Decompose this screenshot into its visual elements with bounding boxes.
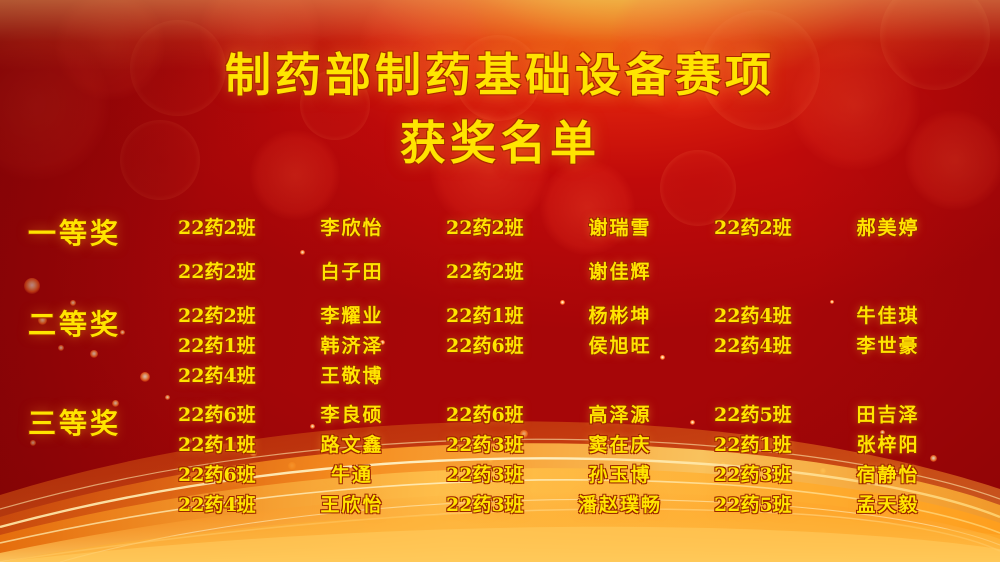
award-label-1: 一等奖	[28, 212, 178, 252]
winner-entry: 22药6班侯旭旺	[446, 331, 714, 358]
winner-entry: 22药2班李欣怡	[178, 213, 446, 240]
winner-entry: 22药2班谢瑞雪	[446, 213, 714, 240]
table-row: 22药6班牛通22药3班孙玉博22药3班宿静怡	[178, 458, 990, 488]
winner-name: 谢瑞雪	[550, 213, 714, 240]
winner-entry: 22药4班王欣怡	[178, 490, 446, 517]
winner-name: 牛通	[282, 460, 446, 487]
winner-class: 22药2班	[446, 213, 550, 240]
table-row: 22药2班李耀业22药1班杨彬坤22药4班牛佳琪	[178, 299, 990, 329]
winner-class: 22药4班	[714, 331, 818, 358]
table-row: 22药4班王欣怡22药3班潘赵璞畅22药5班孟天毅	[178, 488, 990, 518]
winner-class: 22药4班	[178, 490, 282, 517]
winner-entry: 22药3班窦在庆	[446, 430, 714, 457]
winner-name: 李耀业	[282, 301, 446, 328]
winner-entry: 22药4班李世豪	[714, 331, 982, 358]
winner-entry: 22药2班白子田	[178, 257, 446, 284]
table-row: 22药6班李良硕22药6班高泽源22药5班田吉泽	[178, 398, 990, 428]
award-rows: 22药2班李欣怡22药2班谢瑞雪22药2班郝美婷22药2班白子田22药2班谢佳辉	[178, 204, 990, 292]
table-row: 22药2班李欣怡22药2班谢瑞雪22药2班郝美婷	[178, 204, 990, 248]
winner-class: 22药6班	[178, 460, 282, 487]
winner-class: 22药5班	[714, 490, 818, 517]
winner-name: 李世豪	[818, 331, 982, 358]
winner-name: 潘赵璞畅	[550, 490, 714, 517]
winner-entry: 22药5班孟天毅	[714, 490, 982, 517]
winner-entry: 22药4班牛佳琪	[714, 301, 982, 328]
winner-entry: 22药5班田吉泽	[714, 400, 982, 427]
slide-content: 制药部制药基础设备赛项 获奖名单 一等奖22药2班李欣怡22药2班谢瑞雪22药2…	[0, 0, 1000, 562]
award-label-3: 三等奖	[28, 402, 178, 442]
table-row: 22药2班白子田22药2班谢佳辉	[178, 248, 990, 292]
winner-entry: 22药6班高泽源	[446, 400, 714, 427]
winner-class: 22药6班	[178, 400, 282, 427]
winner-name: 谢佳辉	[550, 257, 714, 284]
winner-class: 22药1班	[714, 430, 818, 457]
winner-name: 韩济泽	[282, 331, 446, 358]
winner-entry: 22药1班杨彬坤	[446, 301, 714, 328]
winner-entry: 22药6班牛通	[178, 460, 446, 487]
winner-class: 22药1班	[178, 331, 282, 358]
table-row: 22药4班王敬博	[178, 359, 990, 389]
winner-entry: 22药2班郝美婷	[714, 213, 982, 240]
winner-name: 李欣怡	[282, 213, 446, 240]
winner-name: 杨彬坤	[550, 301, 714, 328]
winner-entry: 22药2班谢佳辉	[446, 257, 714, 284]
winner-entry: 22药1班张梓阳	[714, 430, 982, 457]
winner-entry: 22药3班孙玉博	[446, 460, 714, 487]
winner-entry: 22药6班李良硕	[178, 400, 446, 427]
winner-name: 王欣怡	[282, 490, 446, 517]
winner-name: 宿静怡	[818, 460, 982, 487]
award-rows: 22药2班李耀业22药1班杨彬坤22药4班牛佳琪22药1班韩济泽22药6班侯旭旺…	[178, 299, 990, 389]
winner-class: 22药3班	[446, 430, 550, 457]
winner-name: 白子田	[282, 257, 446, 284]
winner-class: 22药4班	[714, 301, 818, 328]
winner-class: 22药1班	[178, 430, 282, 457]
winner-class: 22药3班	[714, 460, 818, 487]
winner-name: 郝美婷	[818, 213, 982, 240]
award-list-slide: 制药部制药基础设备赛项 获奖名单 一等奖22药2班李欣怡22药2班谢瑞雪22药2…	[0, 0, 1000, 562]
winner-entry: 22药1班路文鑫	[178, 430, 446, 457]
winner-class: 22药3班	[446, 460, 550, 487]
winner-entry: 22药3班宿静怡	[714, 460, 982, 487]
winner-class: 22药2班	[714, 213, 818, 240]
winner-class: 22药2班	[178, 301, 282, 328]
award-rows: 22药6班李良硕22药6班高泽源22药5班田吉泽22药1班路文鑫22药3班窦在庆…	[178, 398, 990, 518]
winner-name: 高泽源	[550, 400, 714, 427]
winner-name: 牛佳琪	[818, 301, 982, 328]
winner-class: 22药3班	[446, 490, 550, 517]
winner-class: 22药4班	[178, 361, 282, 388]
winner-class: 22药1班	[446, 301, 550, 328]
winner-class: 22药2班	[178, 213, 282, 240]
winner-name: 孟天毅	[818, 490, 982, 517]
winner-name: 路文鑫	[282, 430, 446, 457]
table-row: 22药1班韩济泽22药6班侯旭旺22药4班李世豪	[178, 329, 990, 359]
winner-class: 22药2班	[446, 257, 550, 284]
page-title-line1: 制药部制药基础设备赛项	[0, 52, 1000, 98]
winner-name: 孙玉博	[550, 460, 714, 487]
winner-entry: 22药4班王敬博	[178, 361, 446, 388]
award-label-2: 二等奖	[28, 303, 178, 343]
winner-name: 窦在庆	[550, 430, 714, 457]
awards-list: 一等奖22药2班李欣怡22药2班谢瑞雪22药2班郝美婷22药2班白子田22药2班…	[0, 198, 1000, 562]
winner-class: 22药2班	[178, 257, 282, 284]
winner-name: 王敬博	[282, 361, 446, 388]
winner-entry: 22药2班李耀业	[178, 301, 446, 328]
winner-class: 22药6班	[446, 400, 550, 427]
winner-name: 侯旭旺	[550, 331, 714, 358]
winner-entry: 22药1班韩济泽	[178, 331, 446, 358]
title-block: 制药部制药基础设备赛项 获奖名单	[0, 52, 1000, 166]
winner-name: 张梓阳	[818, 430, 982, 457]
winner-class: 22药5班	[714, 400, 818, 427]
winner-class: 22药6班	[446, 331, 550, 358]
winner-name: 田吉泽	[818, 400, 982, 427]
winner-name: 李良硕	[282, 400, 446, 427]
winner-entry: 22药3班潘赵璞畅	[446, 490, 714, 517]
page-title-line2: 获奖名单	[0, 120, 1000, 166]
table-row: 22药1班路文鑫22药3班窦在庆22药1班张梓阳	[178, 428, 990, 458]
